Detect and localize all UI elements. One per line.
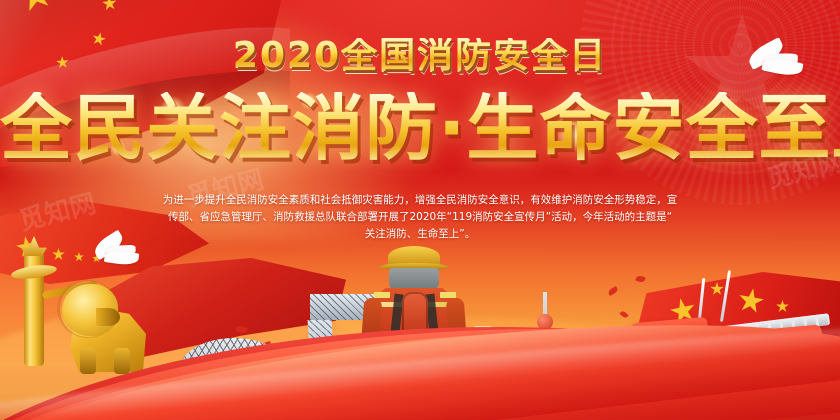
fire-safety-poster: 2020全国消防安全日 全民关注消防·生命安全至上 为进一步提升全民消防安全素质… — [0, 0, 840, 420]
poster-subtitle: 2020全国消防安全日 — [0, 38, 840, 74]
red-silk-ribbon — [0, 240, 840, 420]
poster-main-title: 全民关注消防·生命安全至上 — [0, 92, 840, 164]
body-line: 关注消防、生命至上”。 — [162, 226, 678, 243]
body-line: 为进一步提升全民消防安全素质和社会抵御灾害能力，增强全民消防安全意识，有效维护消… — [162, 192, 678, 209]
body-line: 传部、省应急管理厅、消防救援总队联合部署开展了2020年“119消防安全宣传月”… — [162, 209, 678, 226]
poster-body-text: 为进一步提升全民消防安全素质和社会抵御灾害能力，增强全民消防安全意识，有效维护消… — [162, 192, 678, 243]
